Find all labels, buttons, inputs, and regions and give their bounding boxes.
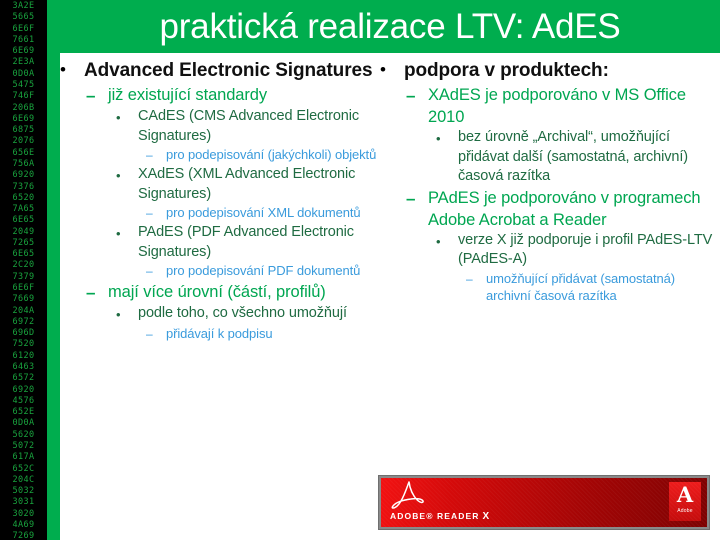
bullet-text: CAdES (CMS Advanced Electronic Signature… bbox=[138, 107, 390, 146]
adobe-reader-banner: ADOBE® READERX A Adobe bbox=[378, 475, 710, 530]
bullet-item-level-4: –pro podepisování PDF dokumentů bbox=[146, 262, 390, 281]
bullet-marker-icon: – bbox=[86, 281, 108, 304]
hex-line: 5665 bbox=[0, 12, 47, 23]
hex-line: 6E69 bbox=[0, 46, 47, 57]
green-accent-stripe bbox=[47, 0, 60, 540]
hex-line: 6E6F bbox=[0, 283, 47, 294]
bullet-text: verze X již podporuje i profil PAdES-LTV… bbox=[458, 231, 720, 270]
bullet-text: podpora v produktech: bbox=[404, 58, 720, 83]
hex-line: 0D0A bbox=[0, 418, 47, 429]
hex-line: 3020 bbox=[0, 509, 47, 520]
adobe-logo-letter: A bbox=[669, 482, 701, 508]
bullet-text: podle toho, co všechno umožňují bbox=[138, 304, 390, 324]
bullet-marker-icon: – bbox=[86, 84, 108, 107]
bullet-marker-icon: – bbox=[406, 187, 428, 210]
hex-line: 6E65 bbox=[0, 215, 47, 226]
left-column: •Advanced Electronic Signatures–již exis… bbox=[60, 58, 390, 344]
bullet-item-level-3: •bez úrovně „Archival“, umožňující přidá… bbox=[436, 128, 720, 187]
bullet-item-level-1: •Advanced Electronic Signatures bbox=[60, 58, 390, 83]
bullet-item-level-3: •podle toho, co všechno umožňují bbox=[116, 304, 390, 325]
bullet-text: XAdES je podporováno v MS Office 2010 bbox=[428, 84, 720, 128]
hex-line: 3A2E bbox=[0, 1, 47, 12]
bullet-marker-icon: • bbox=[60, 58, 84, 82]
bullet-text: pro podepisování XML dokumentů bbox=[166, 204, 390, 222]
content-columns: •Advanced Electronic Signatures–již exis… bbox=[60, 58, 720, 538]
hex-line: 7269 bbox=[0, 531, 47, 540]
bullet-marker-icon: • bbox=[116, 165, 138, 186]
hex-line: 6972 bbox=[0, 317, 47, 328]
hex-line: 756A bbox=[0, 159, 47, 170]
hex-line: 3031 bbox=[0, 497, 47, 508]
bullet-marker-icon: • bbox=[436, 128, 458, 149]
hex-line: 7379 bbox=[0, 272, 47, 283]
hex-line: 204A bbox=[0, 306, 47, 317]
bullet-marker-icon: • bbox=[436, 231, 458, 252]
adobe-logo-caption: Adobe bbox=[669, 508, 701, 514]
right-column: •podpora v produktech:–XAdES je podporov… bbox=[380, 58, 720, 305]
bullet-marker-icon: • bbox=[380, 58, 404, 82]
adobe-corporate-logo: A Adobe bbox=[669, 482, 701, 521]
hex-line: 652C bbox=[0, 464, 47, 475]
hex-line: 656E bbox=[0, 148, 47, 159]
hex-line: 6920 bbox=[0, 170, 47, 181]
bullet-item-level-3: •verze X již podporuje i profil PAdES-LT… bbox=[436, 231, 720, 270]
hex-line: 6E65 bbox=[0, 249, 47, 260]
bullet-text: XAdES (XML Advanced Electronic Signature… bbox=[138, 165, 390, 204]
bullet-item-level-2: –XAdES je podporováno v MS Office 2010 bbox=[406, 84, 720, 128]
bullet-item-level-4: –umožňující přidávat (samostatná) archiv… bbox=[466, 270, 720, 305]
hex-line: 5072 bbox=[0, 441, 47, 452]
bullet-text: bez úrovně „Archival“, umožňující přidáv… bbox=[458, 128, 720, 187]
hex-line: 7A65 bbox=[0, 204, 47, 215]
hex-line: 2076 bbox=[0, 136, 47, 147]
hex-line: 617A bbox=[0, 452, 47, 463]
bullet-item-level-1: •podpora v produktech: bbox=[380, 58, 720, 83]
hex-line: 6E69 bbox=[0, 114, 47, 125]
hex-dump-strip: 3A2E56656E6F76616E692E3A0D0A5475746F206B… bbox=[0, 0, 47, 540]
bullet-marker-icon: – bbox=[146, 146, 166, 165]
bullet-marker-icon: – bbox=[406, 84, 428, 107]
bullet-item-level-2: –PAdES je podporováno v programech Adobe… bbox=[406, 187, 720, 231]
bullet-text: umožňující přidávat (samostatná) archivn… bbox=[486, 270, 720, 305]
hex-line: 6520 bbox=[0, 193, 47, 204]
hex-line: 204C bbox=[0, 475, 47, 486]
hex-line: 5032 bbox=[0, 486, 47, 497]
adobe-reader-wordmark: ADOBE® READERX bbox=[390, 511, 490, 522]
bullet-text: PAdES (PDF Advanced Electronic Signature… bbox=[138, 223, 390, 262]
bullet-text: přidávají k podpisu bbox=[166, 325, 390, 343]
hex-line: 6E6F bbox=[0, 24, 47, 35]
hex-line: 696D bbox=[0, 328, 47, 339]
hex-line: 7265 bbox=[0, 238, 47, 249]
hex-line: 6920 bbox=[0, 385, 47, 396]
hex-line: 7376 bbox=[0, 182, 47, 193]
page-title: praktická realizace LTV: AdES bbox=[60, 2, 720, 52]
hex-line: 746F bbox=[0, 91, 47, 102]
hex-line: 5620 bbox=[0, 430, 47, 441]
hex-line: 652E bbox=[0, 407, 47, 418]
bullet-marker-icon: • bbox=[116, 223, 138, 244]
bullet-item-level-4: –pro podepisování XML dokumentů bbox=[146, 204, 390, 223]
bullet-text: PAdES je podporováno v programech Adobe … bbox=[428, 187, 720, 231]
hex-line: 2C20 bbox=[0, 260, 47, 271]
slide: 3A2E56656E6F76616E692E3A0D0A5475746F206B… bbox=[0, 0, 720, 540]
hex-line: 6572 bbox=[0, 373, 47, 384]
bullet-item-level-3: •XAdES (XML Advanced Electronic Signatur… bbox=[116, 165, 390, 204]
bullet-marker-icon: – bbox=[146, 204, 166, 223]
adobe-banner-inner: ADOBE® READERX A Adobe bbox=[381, 478, 707, 527]
acrobat-logo-icon bbox=[391, 481, 425, 511]
hex-line: 7669 bbox=[0, 294, 47, 305]
bullet-item-level-2: –mají více úrovní (částí, profilů) bbox=[86, 281, 390, 304]
bullet-marker-icon: – bbox=[146, 262, 166, 281]
hex-line: 4A69 bbox=[0, 520, 47, 531]
hex-line: 4576 bbox=[0, 396, 47, 407]
bullet-text: pro podepisování PDF dokumentů bbox=[166, 262, 390, 280]
hex-line: 7520 bbox=[0, 339, 47, 350]
bullet-text: pro podepisování (jakýchkoli) objektů bbox=[166, 146, 390, 164]
bullet-marker-icon: – bbox=[466, 270, 486, 289]
bullet-item-level-4: –přidávají k podpisu bbox=[146, 325, 390, 344]
adobe-version-label: X bbox=[483, 511, 491, 522]
hex-line: 206B bbox=[0, 103, 47, 114]
hex-line: 2E3A bbox=[0, 57, 47, 68]
hex-line: 6875 bbox=[0, 125, 47, 136]
hex-line: 0D0A bbox=[0, 69, 47, 80]
bullet-item-level-3: •PAdES (PDF Advanced Electronic Signatur… bbox=[116, 223, 390, 262]
bullet-marker-icon: • bbox=[116, 107, 138, 128]
hex-line: 2049 bbox=[0, 227, 47, 238]
bullet-item-level-2: –již existující standardy bbox=[86, 84, 390, 107]
adobe-wordmark-text: ADOBE® READER bbox=[390, 511, 480, 521]
hex-line: 6463 bbox=[0, 362, 47, 373]
bullet-text: mají více úrovní (částí, profilů) bbox=[108, 281, 390, 303]
bullet-marker-icon: – bbox=[146, 325, 166, 344]
bullet-item-level-3: •CAdES (CMS Advanced Electronic Signatur… bbox=[116, 107, 390, 146]
bullet-marker-icon: • bbox=[116, 304, 138, 325]
hex-line: 5475 bbox=[0, 80, 47, 91]
bullet-item-level-4: –pro podepisování (jakýchkoli) objektů bbox=[146, 146, 390, 165]
hex-line: 7661 bbox=[0, 35, 47, 46]
hex-line: 6120 bbox=[0, 351, 47, 362]
bullet-text: již existující standardy bbox=[108, 84, 390, 106]
bullet-text: Advanced Electronic Signatures bbox=[84, 58, 390, 83]
